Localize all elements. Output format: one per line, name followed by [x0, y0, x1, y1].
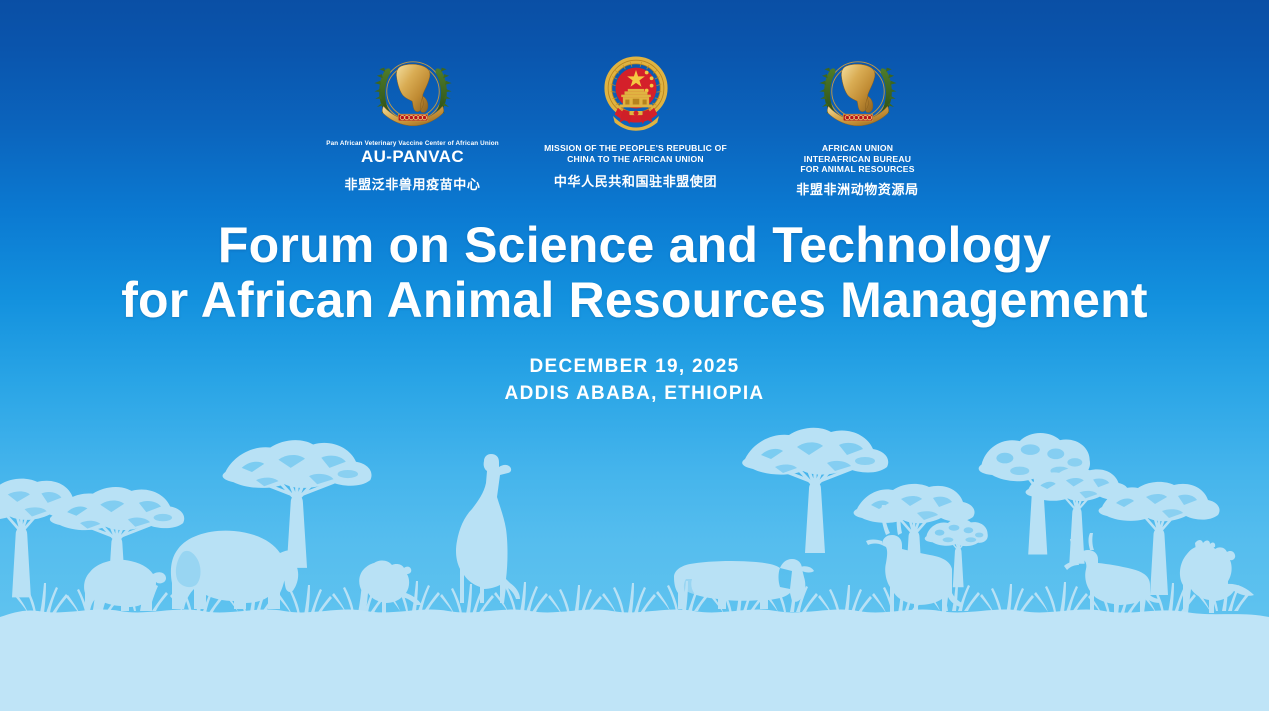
china-national-emblem-icon — [595, 52, 677, 134]
event-date: DECEMBER 19, 2025 — [0, 353, 1269, 380]
event-location: ADDIS ABABA, ETHIOPIA — [0, 380, 1269, 407]
giraffe-silhouette — [456, 451, 520, 603]
au-panvac-acronym: AU-PANVAC — [361, 148, 464, 167]
au-panvac-full-name: Pan African Veterinary Vaccine Center of… — [326, 140, 498, 147]
china-mission-name-l2: CHINA TO THE AFRICAN UNION — [544, 154, 727, 165]
china-mission-name-l1: MISSION OF THE PEOPLE'S REPUBLIC OF — [544, 143, 727, 154]
savanna-silhouette-scene — [0, 421, 1269, 711]
au-ibar-name-l3: FOR ANIMAL RESOURCES — [800, 164, 914, 175]
event-meta: DECEMBER 19, 2025 ADDIS ABABA, ETHIOPIA — [0, 353, 1269, 407]
china-mission-name: MISSION OF THE PEOPLE'S REPUBLIC OF CHIN… — [544, 143, 727, 164]
title-line-1: Forum on Science and Technology — [0, 218, 1269, 273]
event-poster: Pan African Veterinary Vaccine Center of… — [0, 0, 1269, 711]
acacia-tree-3 — [742, 428, 888, 553]
logo-china-mission: MISSION OF THE PEOPLE'S REPUBLIC OF CHIN… — [525, 52, 747, 190]
partner-logos-row: Pan African Veterinary Vaccine Center of… — [0, 52, 1269, 198]
page-title: Forum on Science and Technology for Afri… — [0, 218, 1269, 328]
african-union-emblem-icon — [817, 52, 899, 134]
elephant-silhouette — [171, 531, 302, 609]
tree-far-left — [0, 479, 85, 598]
title-line-2: for African Animal Resources Management — [0, 273, 1269, 328]
china-mission-name-chinese: 中华人民共和国驻非盟使团 — [554, 174, 717, 190]
au-ibar-name: AFRICAN UNION INTERAFRICAN BUREAU FOR AN… — [800, 143, 914, 175]
au-panvac-name-chinese: 非盟泛非兽用疫苗中心 — [344, 177, 480, 193]
logo-au-panvac: Pan African Veterinary Vaccine Center of… — [301, 52, 525, 193]
au-ibar-name-l2: INTERAFRICAN BUREAU — [800, 154, 914, 165]
african-union-emblem-icon — [372, 52, 454, 134]
ground-strip — [0, 610, 1269, 711]
au-ibar-name-chinese: 非盟非洲动物资源局 — [796, 182, 918, 198]
au-ibar-name-l1: AFRICAN UNION — [800, 143, 914, 154]
logo-au-ibar: AFRICAN UNION INTERAFRICAN BUREAU FOR AN… — [747, 52, 969, 198]
